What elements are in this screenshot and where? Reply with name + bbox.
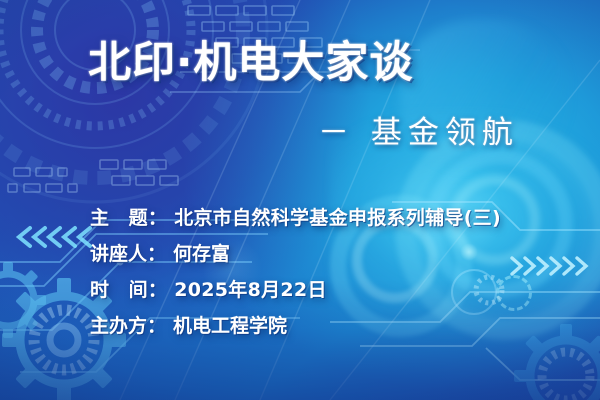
detail-value-subject: 北京市自然科学基金申报系列辅导(三) <box>174 203 501 230</box>
detail-value-speaker: 何存富 <box>173 239 230 266</box>
detail-label-time: 时 间： <box>90 275 167 302</box>
page-subtitle: － 基金领航 <box>318 118 519 149</box>
detail-label-speaker: 讲座人： <box>90 239 166 266</box>
detail-row-speaker: 讲座人： 何存富 <box>90 239 590 266</box>
event-details: 主 题： 北京市自然科学基金申报系列辅导(三) 讲座人： 何存富 时 间： 20… <box>90 203 590 347</box>
detail-row-host: 主办方： 机电工程学院 <box>90 311 590 338</box>
detail-value-time: 2025年8月22日 <box>174 275 327 302</box>
seminar-poster: 北印·机电大家谈 － 基金领航 主 题： 北京市自然科学基金申报系列辅导(三) … <box>0 0 600 400</box>
detail-row-time: 时 间： 2025年8月22日 <box>90 275 590 302</box>
detail-row-subject: 主 题： 北京市自然科学基金申报系列辅导(三) <box>90 203 590 230</box>
detail-label-host: 主办方： <box>90 311 166 338</box>
detail-value-host: 机电工程学院 <box>173 311 287 338</box>
detail-label-subject: 主 题： <box>90 203 167 230</box>
page-title: 北印·机电大家谈 <box>88 42 413 85</box>
